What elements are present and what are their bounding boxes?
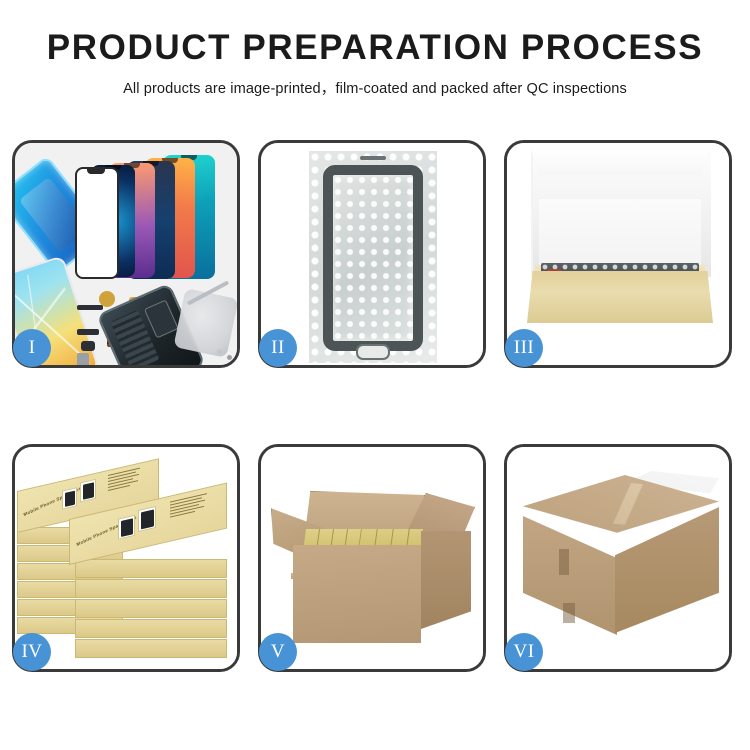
step-panel-3: III [504, 140, 732, 368]
step-6-image [507, 447, 729, 669]
box-thumbnail [118, 515, 135, 540]
box-spec-lines [108, 467, 144, 493]
sim-tray-part-icon [77, 353, 89, 365]
step-panel-5: V [258, 444, 486, 672]
screw-icon [227, 355, 232, 360]
flex-cable-part-icon [77, 305, 103, 310]
step-badge-6: VI [505, 633, 543, 671]
sealed-carton-icon [523, 475, 719, 647]
earpiece-slot-icon [360, 156, 386, 160]
repair-tool-icon [173, 288, 237, 358]
step-panel-4: Mobile Phone Spare Parts [12, 444, 240, 672]
box-edge [75, 599, 227, 618]
phone-lineup [75, 155, 235, 285]
box-thumbnail [138, 506, 156, 532]
step-3-image [507, 143, 729, 365]
step-5-image [261, 447, 483, 669]
step-panel-2: II [258, 140, 486, 368]
step-panel-1: I [12, 140, 240, 368]
kraft-box-tray [527, 271, 713, 323]
page-title: PRODUCT PREPARATION PROCESS [0, 30, 750, 67]
step-2-image [261, 143, 483, 365]
open-carton-icon [279, 487, 471, 647]
box-edge [75, 619, 227, 638]
step-panel-6: VI [504, 444, 732, 672]
step-4-image: Mobile Phone Spare Parts [15, 447, 237, 669]
antenna-part-icon [77, 329, 99, 335]
carton-seam [559, 549, 569, 575]
step-badge-4: IV [13, 633, 51, 671]
retail-box-stack: Mobile Phone Spare Parts [17, 463, 237, 663]
phone-white-icon [75, 167, 119, 279]
carton-front-face [293, 545, 421, 643]
box-edge [75, 559, 227, 578]
product-preparation-process-page: PRODUCT PREPARATION PROCESS All products… [0, 0, 750, 750]
step-badge-1: I [13, 329, 51, 367]
home-button-icon [356, 344, 390, 360]
process-steps-grid: I II III [12, 140, 738, 672]
box-thumbnail [62, 487, 77, 509]
page-header: PRODUCT PREPARATION PROCESS All products… [0, 0, 750, 98]
page-subtitle: All products are image-printed，film-coat… [0, 77, 750, 98]
step-1-image [15, 143, 237, 365]
step-badge-3: III [505, 329, 543, 367]
carton-right-face [421, 531, 471, 629]
box-edge [75, 579, 227, 598]
box-thumbnail [80, 479, 96, 503]
step-badge-5: V [259, 633, 297, 671]
box-edge [75, 639, 227, 658]
wrapped-screen-icon [323, 165, 423, 351]
camera-part-icon [81, 341, 95, 351]
step-badge-2: II [259, 329, 297, 367]
carton-seam [563, 603, 575, 623]
box-lid-top-edge [531, 149, 709, 175]
box-spec-lines [170, 492, 210, 519]
